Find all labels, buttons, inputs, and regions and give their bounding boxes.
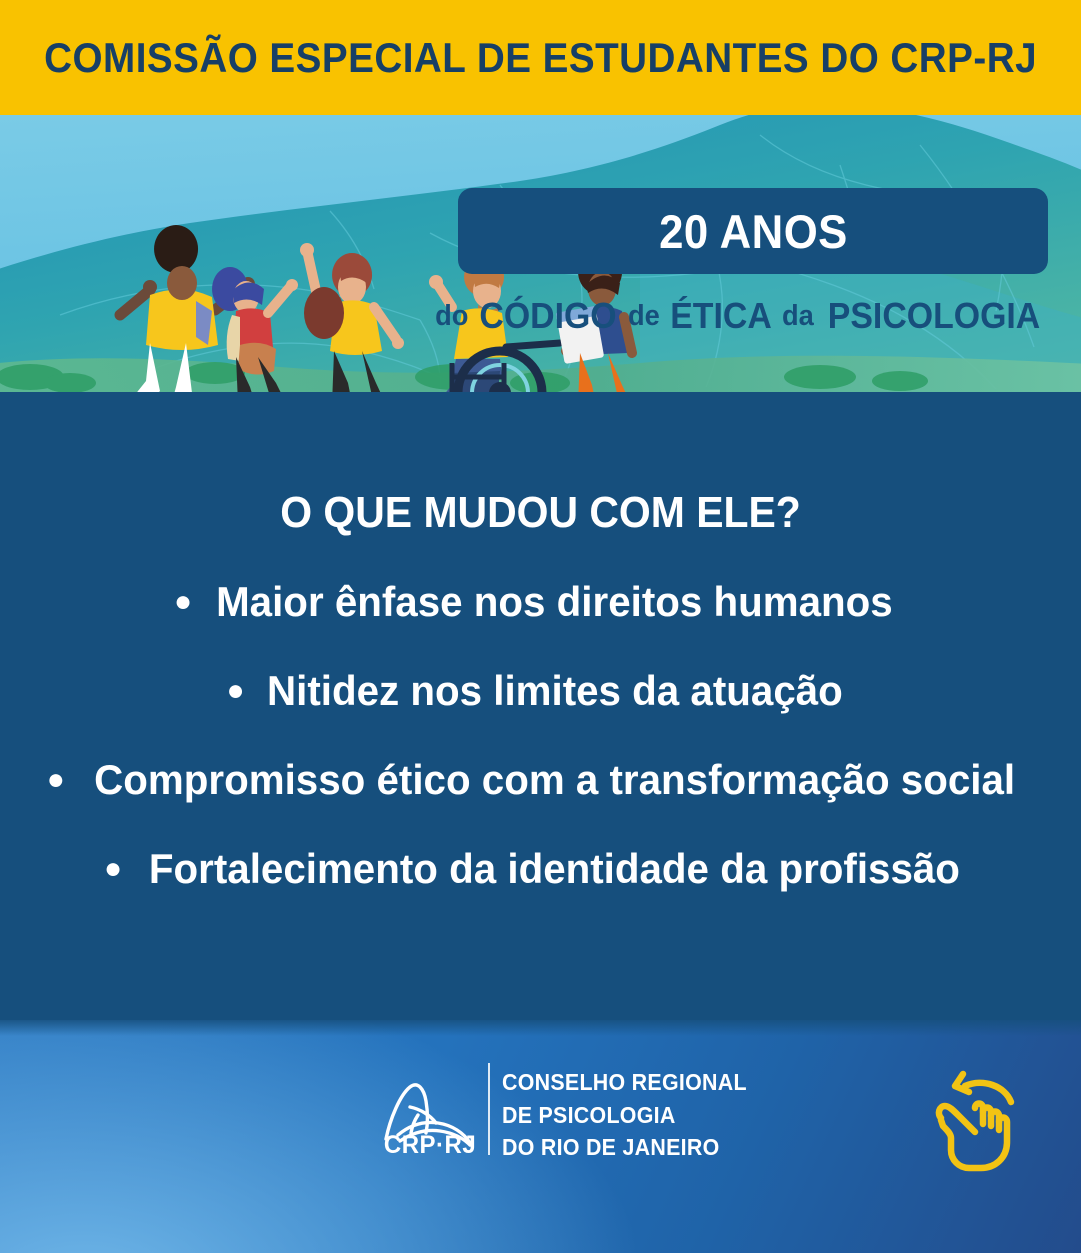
list-item-label: Nitidez nos limites da atuação (267, 667, 843, 715)
bullet-marker-icon: ● (227, 674, 245, 708)
list-item: ●Maior ênfase nos direitos humanos (0, 575, 1081, 626)
crp-rj-name-line: DE PSICOLOGIA (502, 1099, 747, 1132)
subtitle-part-0: do (435, 300, 468, 333)
anniversary-badge-label: 20 ANOS (659, 204, 848, 259)
subtitle-part-2: de (628, 300, 660, 333)
list-item: ●Fortalecimento da identidade da profiss… (0, 842, 1081, 893)
subtitle-part-1: CÓDIGO (480, 295, 617, 337)
list-item-label: Fortalecimento da identidade da profissã… (149, 845, 960, 893)
subtitle-part-4: da (782, 300, 814, 333)
logo-divider (488, 1063, 490, 1155)
bullet-marker-icon: ● (47, 763, 65, 797)
list-item-label: Maior ênfase nos direitos humanos (216, 578, 893, 626)
bullet-marker-icon: ● (104, 852, 122, 886)
hero-subtitle: do CÓDIGO de ÉTICA da PSICOLOGIA (458, 294, 1050, 338)
top-banner: COMISSÃO ESPECIAL DE ESTUDANTES DO CRP-R… (0, 0, 1081, 115)
list-item-label: Compromisso ético com a transformação so… (94, 756, 1015, 804)
list-item: ●Nitidez nos limites da atuação (0, 664, 1081, 715)
bullet-marker-icon: ● (174, 585, 192, 619)
crp-rj-name-line: CONSELHO REGIONAL (502, 1066, 747, 1099)
campaign-title: COMISSÃO ESPECIAL DE ESTUDANTES DO CRP-R… (44, 34, 1037, 82)
footer-top-fade (0, 1020, 1081, 1036)
crp-rj-name-line: DO RIO DE JANEIRO (502, 1131, 747, 1164)
swipe-left-hand-icon[interactable] (925, 1068, 1033, 1178)
subtitle-part-3: ÉTICA (670, 295, 772, 337)
main-question-title: O QUE MUDOU COM ELE? (38, 488, 1043, 538)
list-item: ●Compromisso ético com a transformação s… (0, 753, 1081, 804)
anniversary-badge: 20 ANOS (458, 188, 1048, 274)
poster: COMISSÃO ESPECIAL DE ESTUDANTES DO CRP-R… (0, 0, 1081, 1253)
crp-rj-abbr: CRP·RJ (384, 1131, 476, 1160)
subtitle-part-5: PSICOLOGIA (828, 295, 1040, 337)
crp-rj-full-name: CONSELHO REGIONAL DE PSICOLOGIA DO RIO D… (502, 1066, 747, 1164)
changes-list: ●Maior ênfase nos direitos humanos ●Niti… (0, 575, 1081, 931)
